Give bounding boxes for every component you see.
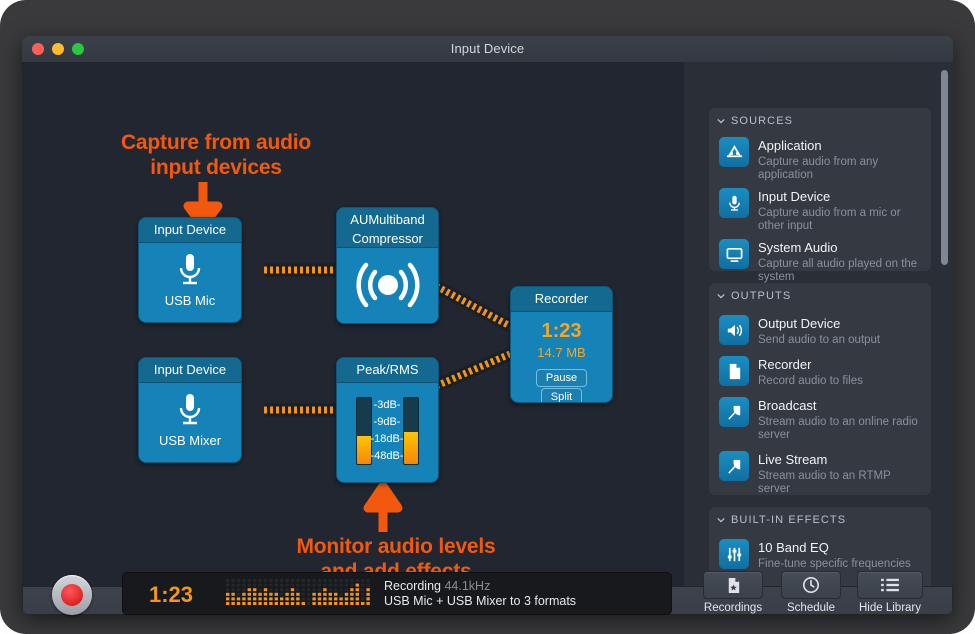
library-item-desc: Stream audio to an online radio server [758,416,923,442]
hide-library-label: Hide Library [857,602,923,614]
recorder-size: 14.7 MB [511,345,612,360]
library-item-desc: Stream audio to an RTMP server [758,470,923,496]
schedule-button[interactable]: Schedule [781,571,841,614]
library-scrollbar[interactable] [941,62,948,559]
library-item-desc: Capture audio from a mic or other input [758,207,923,233]
node-header: Input Device [139,358,241,383]
library-item-desc: Record audio to files [758,375,923,388]
library-item-title: Recorder [758,357,811,372]
title-bar: Input Device [22,36,953,63]
node-header: Recorder [511,287,612,312]
library-item-title: Input Device [758,189,830,204]
node-peak-rms[interactable]: Peak/RMS -3dB- -9dB- -18dB- -48dB- [336,357,439,483]
dot-matrix-level-meter [226,579,376,609]
library-sidebar[interactable]: SOURCES Application Capture audio from [684,62,953,586]
library-item-system-audio[interactable]: System Audio Capture all audio played on… [709,236,931,287]
node-input-device-usb-mic[interactable]: Input Device USB Mic [138,217,242,323]
node-header-line2: Compressor [352,231,423,246]
record-button[interactable] [52,575,92,615]
node-header-line1: AUMultiband [350,212,424,227]
node-recorder[interactable]: Recorder 1:23 14.7 MB Pause Split [510,286,613,403]
app-window: Input Device [22,36,953,614]
recorder-time: 1:23 [511,320,612,343]
db-label: -9dB- [357,416,417,428]
panel-title: BUILT-IN EFFECTS [731,514,846,526]
library-item-output-device[interactable]: Output Device Send audio to an output [709,309,931,350]
node-aumultiband-compressor[interactable]: AUMultiband Compressor [336,207,439,324]
node-header: Peak/RMS [337,358,438,383]
node-graph-canvas[interactable]: Capture from audio input devices Monitor… [23,62,683,586]
scrollbar-thumb[interactable] [941,70,948,265]
db-label: -18dB- [357,433,417,445]
schedule-label: Schedule [781,602,841,614]
annotation-bottom-line1: Monitor audio levels [296,535,495,558]
lcd-status-line: Recording 44.1kHz [384,579,490,593]
panel-title: SOURCES [731,115,793,127]
hide-library-button[interactable]: Hide Library [857,571,923,614]
node-header: Input Device [139,218,241,243]
panel-header-sources[interactable]: SOURCES [709,108,931,134]
speaker-icon [719,315,749,345]
db-label: -3dB- [357,399,417,411]
annotation-top: Capture from audio input devices [85,130,347,180]
broadcast-waves-icon [349,256,427,314]
panel-title: OUTPUTS [731,290,791,302]
library-item-application[interactable]: Application Capture audio from any appli… [709,134,931,185]
db-scale-labels: -3dB- -9dB- -18dB- -48dB- [357,399,417,467]
node-input-device-usb-mixer[interactable]: Input Device USB Mixer [138,357,242,463]
library-item-broadcast[interactable]: Broadcast Stream audio to an online radi… [709,391,931,445]
library-item-desc: Capture audio from any application [758,156,923,182]
lcd-status-text: Recording [384,579,441,593]
lcd-sample-rate: 44.1kHz [444,579,490,593]
library-item-title: Broadcast [758,398,817,413]
recordings-label: Recordings [703,602,763,614]
library-item-desc: Fine-tune specific frequencies [758,558,923,571]
node-header: AUMultiband Compressor [337,208,438,248]
equalizer-icon [719,539,749,569]
display-icon [719,239,749,269]
library-item-10-band-eq[interactable]: 10 Band EQ Fine-tune specific frequencie… [709,533,931,574]
library-item-title: Live Stream [758,452,827,467]
recorder-pause-button[interactable]: Pause [536,369,587,387]
library-item-desc: Send audio to an output [758,334,923,347]
microphone-icon [175,391,205,429]
panel-outputs: OUTPUTS Output Device Send audio to an o… [709,283,931,495]
lcd-detail-text: USB Mic + USB Mixer to 3 formats [384,594,576,608]
library-item-title: Application [758,138,822,153]
microphone-icon [719,188,749,218]
arrow-up-icon [363,482,403,534]
annotation-top-line1: Capture from audio [121,131,311,154]
satellite-dish-icon [719,397,749,427]
chevron-down-icon [717,516,725,524]
microphone-icon [175,251,205,289]
library-item-desc: Capture all audio played on the system [758,258,923,284]
annotation-top-line2: input devices [150,156,282,179]
recordings-icon [725,576,742,595]
list-icon [880,577,900,593]
library-item-input-device[interactable]: Input Device Capture audio from a mic or… [709,185,931,236]
chevron-down-icon [717,117,725,125]
document-icon [719,356,749,386]
lcd-elapsed-time: 1:23 [149,582,193,608]
node-subtitle: USB Mixer [139,433,241,448]
panel-sources: SOURCES Application Capture audio from [709,108,931,271]
library-item-title: 10 Band EQ [758,540,829,555]
recordings-button[interactable]: Recordings [703,571,763,614]
library-item-live-stream[interactable]: Live Stream Stream audio to an RTMP serv… [709,445,931,499]
application-icon [719,137,749,167]
library-item-title: Output Device [758,316,840,331]
satellite-dish-icon [719,451,749,481]
db-label: -48dB- [357,450,417,462]
clock-icon [802,576,820,594]
status-lcd: 1:23 Recording 44.1kHz USB Mic + USB Mix… [122,572,672,615]
chevron-down-icon [717,292,725,300]
recorder-split-button[interactable]: Split [541,388,582,403]
library-item-recorder[interactable]: Recorder Record audio to files [709,350,931,391]
library-item-title: System Audio [758,240,838,255]
panel-header-outputs[interactable]: OUTPUTS [709,283,931,309]
panel-header-built-in-effects[interactable]: BUILT-IN EFFECTS [709,507,931,533]
window-title: Input Device [22,36,953,62]
node-subtitle: USB Mic [139,293,241,308]
